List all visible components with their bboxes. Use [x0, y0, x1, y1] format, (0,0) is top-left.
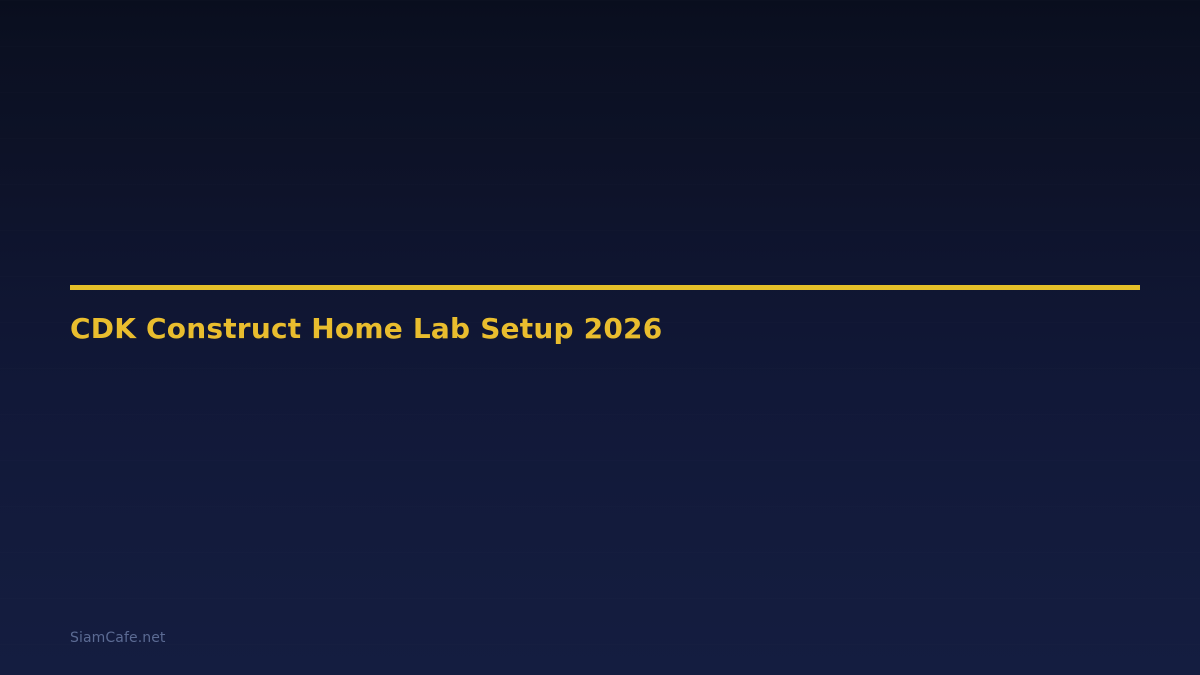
page-title: CDK Construct Home Lab Setup 2026: [70, 290, 1140, 346]
footer-attribution: SiamCafe.net: [70, 630, 166, 646]
title-block: CDK Construct Home Lab Setup 2026: [70, 285, 1140, 346]
title-slide: CDK Construct Home Lab Setup 2026 SiamCa…: [0, 0, 1200, 675]
